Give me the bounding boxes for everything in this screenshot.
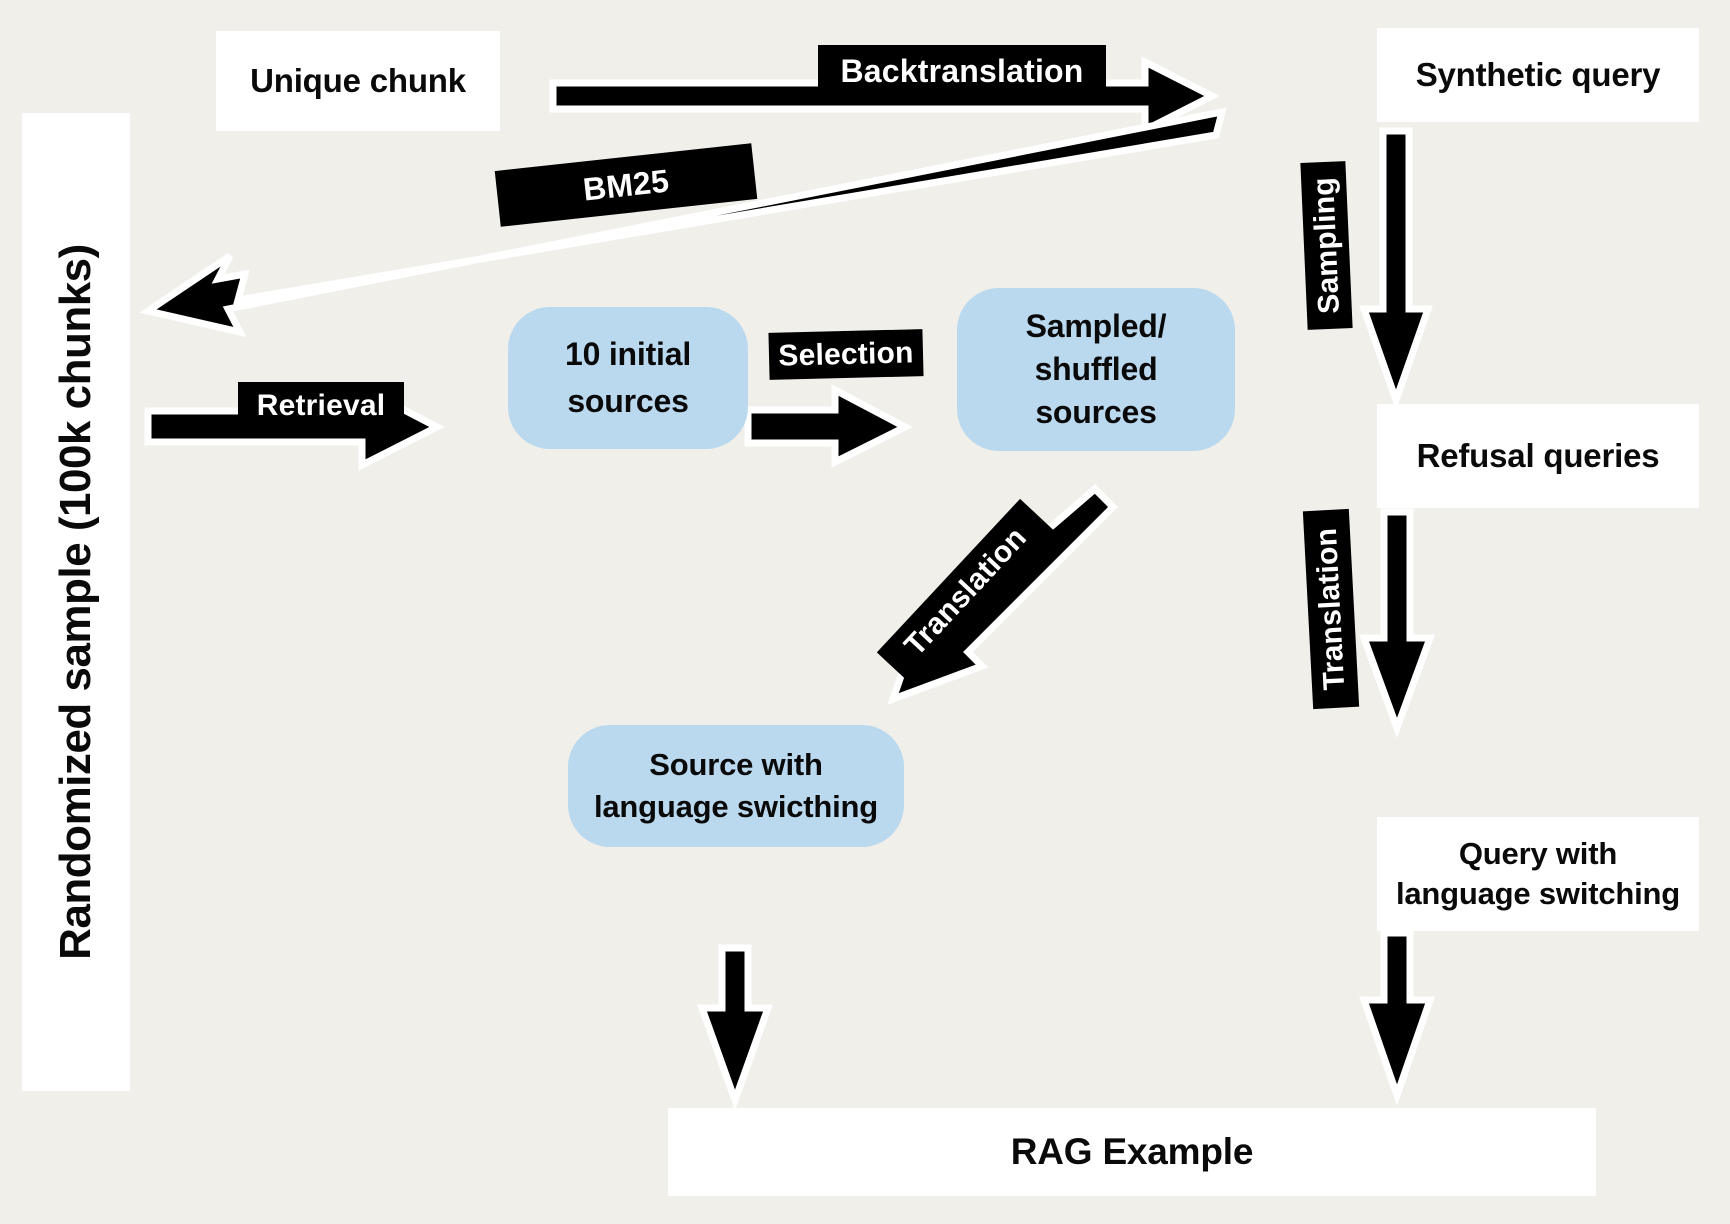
node-rag-example-label: RAG Example	[1011, 1129, 1254, 1174]
node-sampled-shuffled-sources-line1: Sampled/	[1026, 307, 1167, 346]
arrow-layer	[0, 0, 1730, 1224]
edge-label-selection: Selection	[768, 329, 923, 380]
edge-label-sampling: Sampling	[1300, 161, 1352, 330]
node-synthetic-query[interactable]: Synthetic query	[1377, 28, 1699, 122]
node-sampled-shuffled-sources-line2: shuffled	[1035, 350, 1158, 389]
node-rag-example[interactable]: RAG Example	[668, 1108, 1596, 1196]
node-unique-chunk[interactable]: Unique chunk	[216, 31, 500, 131]
edge-label-selection-text: Selection	[778, 336, 914, 373]
node-synthetic-query-label: Synthetic query	[1416, 55, 1661, 95]
node-query-with-language-switching-line1: Query with	[1459, 835, 1617, 873]
node-query-with-language-switching[interactable]: Query with language switching	[1377, 817, 1699, 931]
node-ten-initial-sources[interactable]: 10 initial sources	[508, 307, 748, 449]
edge-label-translation-right: Translation	[1303, 509, 1359, 709]
edge-label-translation-diagonal: Translation	[877, 499, 1055, 685]
edge-label-translation-diagonal-text: Translation	[898, 521, 1034, 663]
edge-label-sampling-text: Sampling	[1307, 177, 1347, 315]
edge-label-bm25: BM25	[495, 143, 758, 227]
node-refusal-queries-label: Refusal queries	[1417, 436, 1660, 476]
node-source-with-language-swicthing-line1: Source with	[649, 746, 823, 784]
arrow-source-to-rag	[702, 948, 768, 1100]
node-ten-initial-sources-line2: sources	[567, 382, 688, 421]
randomized-sample-banner: Randomized sample (100k chunks)	[22, 113, 130, 1091]
node-ten-initial-sources-line1: 10 initial	[565, 335, 691, 374]
node-sampled-shuffled-sources[interactable]: Sampled/ shuffled sources	[957, 288, 1235, 451]
node-sampled-shuffled-sources-line3: sources	[1035, 393, 1156, 432]
node-query-with-language-switching-line2: language switching	[1396, 875, 1680, 913]
edge-label-backtranslation: Backtranslation	[818, 45, 1106, 97]
randomized-sample-banner-label: Randomized sample (100k chunks)	[51, 244, 101, 960]
diagram-canvas: Randomized sample (100k chunks) Unique c…	[0, 0, 1730, 1224]
edge-label-backtranslation-text: Backtranslation	[840, 53, 1083, 90]
arrow-translation-right	[1364, 512, 1430, 728]
node-unique-chunk-label: Unique chunk	[250, 61, 466, 101]
arrow-selection	[748, 390, 905, 462]
node-refusal-queries[interactable]: Refusal queries	[1377, 404, 1699, 508]
node-source-with-language-swicthing[interactable]: Source with language swicthing	[568, 725, 904, 847]
edge-label-retrieval: Retrieval	[238, 382, 404, 429]
edge-label-bm25-text: BM25	[581, 162, 671, 208]
arrow-query-to-rag	[1364, 933, 1430, 1095]
edge-label-translation-right-text: Translation	[1310, 527, 1352, 691]
node-source-with-language-swicthing-line2: language swicthing	[594, 788, 878, 826]
arrow-sampling	[1364, 131, 1428, 400]
edge-label-retrieval-text: Retrieval	[257, 389, 386, 423]
